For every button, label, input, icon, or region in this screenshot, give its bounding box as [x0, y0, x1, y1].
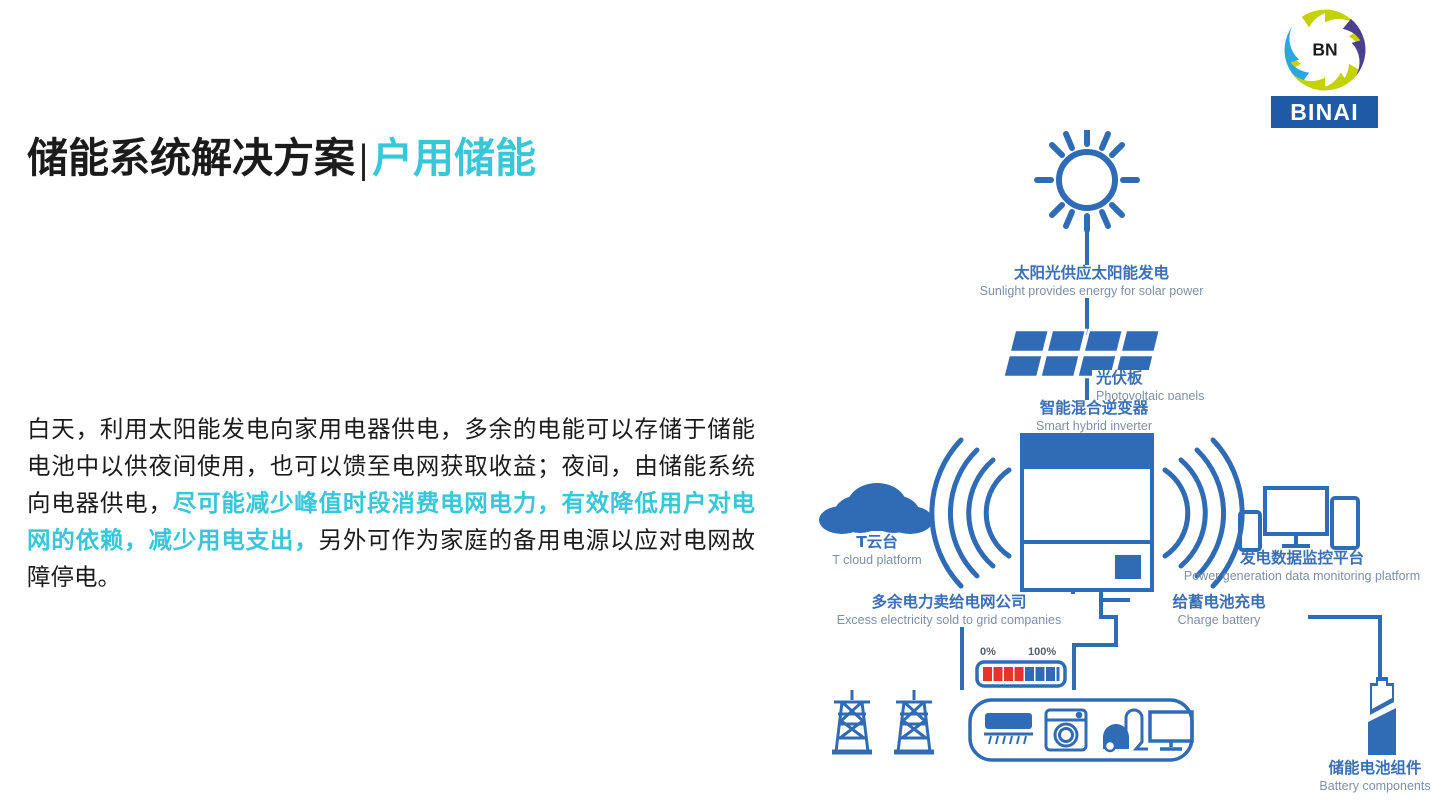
diagram-canvas	[790, 130, 1444, 790]
page-title: 储能系统解决方案|户用储能	[27, 131, 536, 185]
cloud-icon	[819, 483, 933, 534]
sun-icon	[1037, 130, 1137, 230]
appliances-icon	[970, 700, 1192, 760]
devices-icon	[1240, 488, 1358, 550]
wireless-signal-left-icon	[932, 440, 1009, 586]
pylon-icon	[832, 690, 934, 752]
battery-icon	[1368, 677, 1396, 755]
brand-logo: BN BINAI	[1271, 4, 1389, 128]
solar-panel-icon	[1003, 330, 1160, 377]
binai-wordmark: BINAI	[1271, 96, 1378, 128]
page-title-accent: 户用储能	[372, 135, 536, 181]
battery-gauge-icon	[977, 662, 1065, 686]
home-energy-storage-diagram: 太阳光供应太阳能发电 Sunlight provides energy for …	[790, 130, 1444, 790]
page-title-separator: |	[355, 135, 372, 181]
binai-wordmark-text: BINAI	[1290, 99, 1359, 126]
gauge-min-label: 0%	[980, 646, 996, 658]
emblem-initials: BN	[1312, 40, 1337, 60]
inverter-icon	[1022, 435, 1152, 590]
gauge-max-label: 100%	[1028, 646, 1056, 658]
body-paragraph: 白天，利用太阳能发电向家用电器供电，多余的电能可以存储于储能电池中以供夜间使用，…	[27, 412, 755, 597]
page-title-main: 储能系统解决方案	[27, 135, 355, 181]
wireless-signal-right-icon	[1165, 440, 1242, 586]
binai-emblem-icon: BN	[1279, 4, 1371, 96]
gauge-segments	[983, 667, 1060, 681]
